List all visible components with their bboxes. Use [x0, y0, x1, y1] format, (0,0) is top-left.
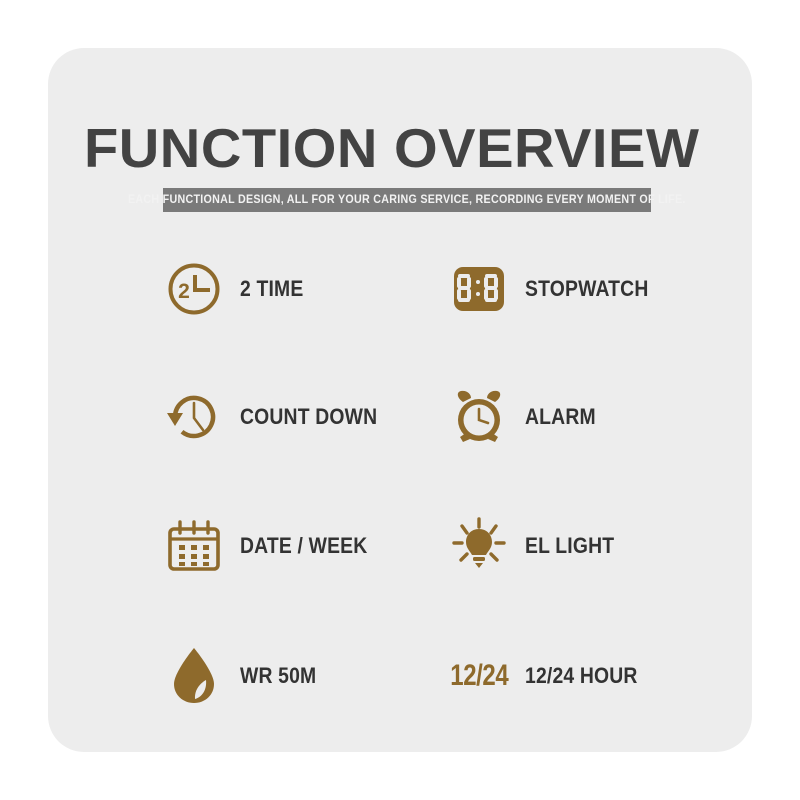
twelve-twentyfour-text-icon: 12/24	[447, 644, 511, 708]
feature-label: WR 50M	[240, 663, 316, 689]
feature-item-date-week[interactable]: DATE / WEEK	[162, 514, 385, 578]
twelve-twentyfour-text: 12/24	[450, 659, 508, 693]
alarm-clock-icon	[447, 385, 511, 449]
feature-label: 12/24 HOUR	[525, 663, 638, 689]
feature-label: COUNT DOWN	[240, 404, 377, 430]
feature-label: 2 TIME	[240, 276, 303, 302]
subtitle-text: EACH FUNCTIONAL DESIGN, ALL FOR YOUR CAR…	[128, 194, 686, 206]
svg-text:2: 2	[178, 280, 190, 303]
subtitle-banner: EACH FUNCTIONAL DESIGN, ALL FOR YOUR CAR…	[163, 188, 651, 212]
feature-item-alarm[interactable]: ALARM	[447, 385, 605, 449]
feature-item-12-24-hour[interactable]: 12/24 12/24 HOUR	[447, 644, 653, 708]
feature-item-count-down[interactable]: COUNT DOWN	[162, 385, 396, 449]
lightbulb-icon	[447, 514, 511, 578]
feature-item-stopwatch[interactable]: STOPWATCH	[447, 257, 665, 321]
feature-label: STOPWATCH	[525, 276, 648, 302]
feature-label: DATE / WEEK	[240, 533, 367, 559]
infographic-page: FUNCTION OVERVIEW EACH FUNCTIONAL DESIGN…	[0, 0, 800, 800]
dual-time-clock-icon: 2	[162, 257, 226, 321]
feature-label: ALARM	[525, 404, 596, 430]
feature-item-water-resistance[interactable]: WR 50M	[162, 644, 327, 708]
feature-item-2-time[interactable]: 2 2 TIME	[162, 257, 312, 321]
countdown-clock-arrow-icon	[162, 385, 226, 449]
water-drop-icon	[162, 644, 226, 708]
digital-stopwatch-icon	[447, 257, 511, 321]
calendar-icon	[162, 514, 226, 578]
feature-item-el-light[interactable]: EL LIGHT	[447, 514, 626, 578]
page-title: FUNCTION OVERVIEW	[84, 119, 737, 177]
feature-label: EL LIGHT	[525, 533, 614, 559]
